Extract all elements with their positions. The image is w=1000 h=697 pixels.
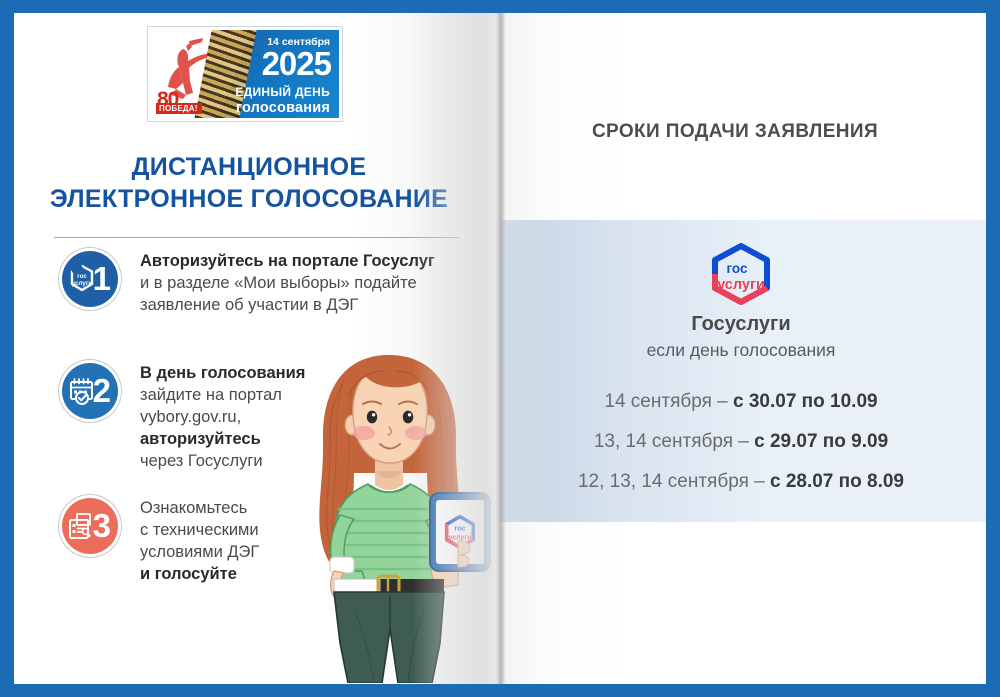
step-3-line-1: Ознакомьтесь	[140, 498, 259, 520]
deadline-row-2-days: 13, 14 сентября –	[594, 431, 754, 452]
step-1-text: Авторизуйтесь на портале Госуслуг и в ра…	[140, 251, 435, 317]
badge-inner: 80 ПОБЕДА! 14 сентября 2025 ЕДИНЫЙ ДЕНЬ …	[151, 30, 339, 118]
step-2-number: 2	[93, 374, 111, 407]
page-title-line1: ДИСТАНЦИОННОЕ	[14, 151, 484, 183]
service-name: Госуслуги	[496, 313, 986, 336]
woman-holding-tablet-illustration: гос услуги	[282, 343, 497, 683]
deadline-row-1-days: 14 сентября –	[604, 391, 733, 412]
step-2-icon-circle: 2	[62, 363, 118, 419]
deadline-row-2-period: с 29.07 по 9.09	[754, 431, 888, 452]
deadline-row-3-period: с 28.07 по 8.09	[770, 471, 904, 492]
step-3-number: 3	[93, 509, 111, 542]
step-2-line-1: В день голосования	[140, 363, 305, 385]
step-item-3: 3 Ознакомьтесь с техническими условиями …	[62, 498, 302, 586]
svg-text:гос: гос	[77, 273, 87, 280]
gosuslugi-logo-text-top: гос	[726, 261, 748, 276]
deadline-row-2: 13, 14 сентября – с 29.07 по 9.09	[496, 432, 986, 451]
deadline-row-3: 12, 13, 14 сентября – с 28.07 по 8.09	[496, 472, 986, 491]
step-item-1: гос услуги 1 Авторизуйтесь на портале Го…	[62, 251, 462, 317]
gosuslugi-logo-text-bottom: услуги	[717, 277, 765, 293]
step-3-line-4: и голосуйте	[140, 564, 259, 586]
badge-line1: ЕДИНЫЙ ДЕНЬ	[235, 85, 330, 99]
step-3-line-2: с техническими	[140, 520, 259, 542]
deadline-list: 14 сентября – с 30.07 по 10.09 13, 14 се…	[496, 392, 986, 512]
step-3-text: Ознакомьтесь с техническими условиями ДЭ…	[140, 498, 259, 586]
step-1-line-1: Авторизуйтесь на портале Госуслуг	[140, 251, 435, 273]
step-2-line-4: авторизуйтесь	[140, 429, 305, 451]
page-title-line2: ЭЛЕКТРОННОЕ ГОЛОСОВАНИЕ	[14, 183, 484, 215]
badge-year: 2025	[262, 47, 331, 80]
page-sheet: 80 ПОБЕДА! 14 сентября 2025 ЕДИНЫЙ ДЕНЬ …	[14, 13, 986, 684]
page-title: ДИСТАНЦИОННОЕ ЭЛЕКТРОННОЕ ГОЛОСОВАНИЕ	[14, 151, 484, 215]
service-subtitle: если день голосования	[496, 340, 986, 361]
svg-text:услуги: услуги	[72, 280, 93, 287]
step-1-number: 1	[93, 262, 111, 295]
step-1-line-2: и в разделе «Мои выборы» подайте	[140, 273, 435, 295]
step-2-text: В день голосования зайдите на портал vyb…	[140, 363, 305, 473]
deadlines-card: гос услуги Госуслуги если день голосован…	[496, 220, 986, 522]
step-2-line-2: зайдите на портал	[140, 385, 305, 407]
right-panel: СРОКИ ПОДАЧИ ЗАЯВЛЕНИЯ гос услуги Госусл…	[484, 13, 986, 684]
election-day-badge: 80 ПОБЕДА! 14 сентября 2025 ЕДИНЫЙ ДЕНЬ …	[147, 26, 343, 122]
step-2-line-5: через Госуслуги	[140, 451, 305, 473]
step-3-icon-circle: 3	[62, 498, 118, 554]
step-3-line-3: условиями ДЭГ	[140, 542, 259, 564]
badge-line2: голосования	[236, 100, 330, 116]
title-divider	[54, 237, 459, 238]
deadline-row-1-period: с 30.07 по 10.09	[733, 391, 878, 412]
svg-text:гос: гос	[455, 526, 466, 533]
step-2-line-3: vybory.gov.ru,	[140, 407, 305, 429]
deadline-row-1: 14 сентября – с 30.07 по 10.09	[496, 392, 986, 411]
step-1-icon-circle: гос услуги 1	[62, 251, 118, 307]
gosuslugi-logo-wrap: гос услуги	[496, 242, 986, 308]
step-1-line-3: заявление об участии в ДЭГ	[140, 295, 435, 317]
gosuslugi-logo-icon: гос услуги	[705, 242, 777, 308]
anniversary-word: ПОБЕДА!	[156, 103, 202, 114]
deadline-row-3-days: 12, 13, 14 сентября –	[578, 471, 770, 492]
poster-root: 80 ПОБЕДА! 14 сентября 2025 ЕДИНЫЙ ДЕНЬ …	[0, 0, 1000, 697]
right-panel-title: СРОКИ ПОДАЧИ ЗАЯВЛЕНИЯ	[484, 121, 986, 143]
